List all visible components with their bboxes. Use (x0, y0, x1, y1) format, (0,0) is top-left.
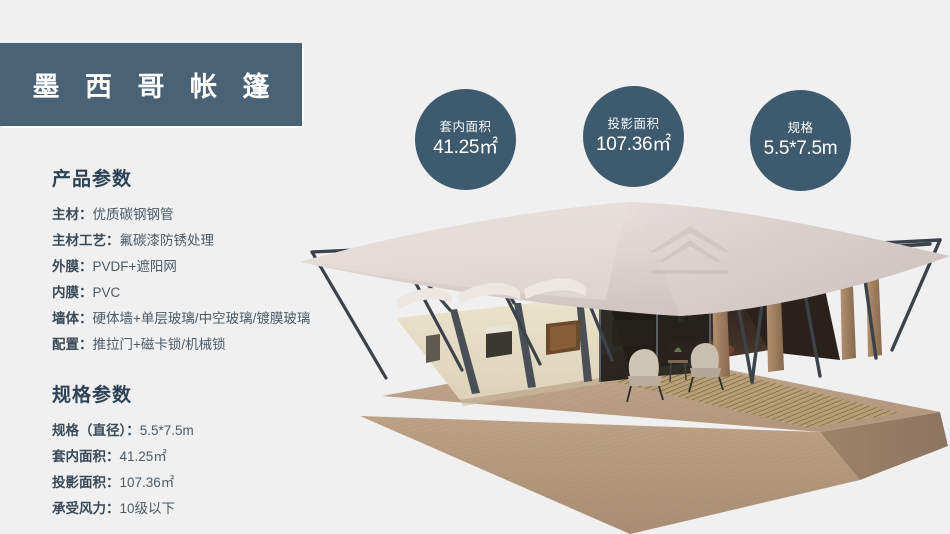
canopy-eave-scallop (396, 288, 452, 310)
wall-window-glass (550, 324, 576, 351)
product-parameters-heading: 产品参数 (52, 164, 382, 191)
param-value: 硬体墙+单层玻璃/中空玻璃/镀膜玻璃 (93, 306, 311, 332)
param-label: 墙体： (52, 306, 93, 332)
param-value: PVDF+遮阳网 (93, 254, 177, 280)
tent-3d-render (300, 200, 950, 534)
badge-value: 107.36㎡ (596, 135, 671, 156)
param-label: 主材工艺： (52, 228, 120, 254)
param-label: 投影面积： (52, 470, 120, 496)
poster-page: 墨 西 哥 帐 篷 产品参数 主材： 优质碳钢钢管 主材工艺： 氟碳漆防锈处理 … (0, 0, 950, 534)
param-value: 107.36㎡ (120, 470, 175, 496)
param-value: 41.25㎡ (120, 444, 167, 470)
param-label: 规格（直径）： (52, 418, 140, 444)
param-label: 承受风力： (52, 496, 120, 522)
canopy-roof-right-panel (630, 202, 950, 316)
param-label: 配置： (52, 332, 93, 358)
badge-dimensions[interactable]: 规格 5.5*7.5m (750, 90, 851, 191)
deck-front-skirt-grain (360, 416, 860, 534)
badge-value: 5.5*7.5m (764, 139, 838, 160)
page-title: 墨 西 哥 帐 篷 (23, 65, 278, 104)
param-label: 套内面积： (52, 444, 120, 470)
badge-projected-area[interactable]: 投影面积 107.36㎡ (583, 86, 684, 187)
param-value: PVC (93, 280, 121, 306)
param-value: 5.5*7.5m (140, 418, 194, 444)
param-value: 推拉门+磁卡锁/机械锁 (93, 332, 226, 358)
tent-render-svg (300, 200, 950, 534)
badge-label: 套内面积 (439, 120, 491, 135)
badge-label: 投影面积 (607, 117, 659, 132)
param-value: 氟碳漆防锈处理 (120, 228, 215, 254)
wall-window (426, 334, 440, 363)
badge-interior-area[interactable]: 套内面积 41.25㎡ (415, 89, 516, 190)
param-value: 优质碳钢钢管 (93, 202, 174, 228)
param-label: 内膜： (52, 280, 93, 306)
param-value: 10级以下 (120, 496, 176, 522)
badge-label: 规格 (787, 121, 813, 136)
badge-value: 41.25㎡ (433, 138, 498, 159)
param-label: 主材： (52, 202, 93, 228)
param-label: 外膜： (52, 254, 93, 280)
title-banner: 墨 西 哥 帐 篷 (0, 43, 302, 126)
